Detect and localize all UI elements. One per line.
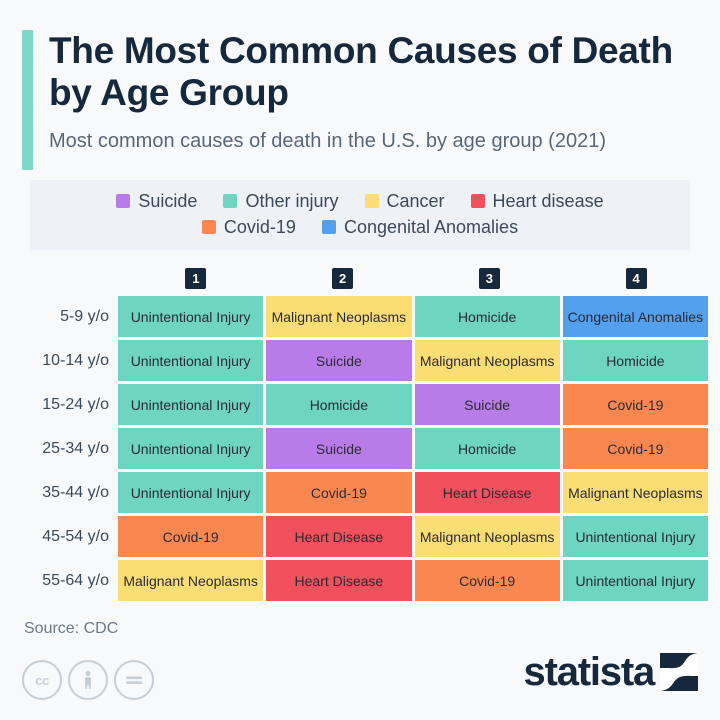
cause-cell: Covid-19 [266,472,411,513]
cause-cell: Suicide [266,428,411,469]
cause-cell: Covid-19 [563,428,708,469]
legend-item: Heart disease [471,188,604,214]
cause-cell: Malignant Neoplasms [415,516,560,557]
row-label-age-group: 55-64 y/o [22,560,118,601]
row-label-age-group: 10-14 y/o [22,340,118,381]
cause-cell: Heart Disease [266,560,411,601]
legend-swatch-icon [471,194,485,208]
table-row: 35-44 y/oUnintentional InjuryCovid-19Hea… [22,472,708,513]
row-cells: Malignant NeoplasmsHeart DiseaseCovid-19… [118,560,708,601]
row-cells: Unintentional InjurySuicideHomicideCovid… [118,428,708,469]
column-rank-badge: 2 [332,268,353,289]
legend-swatch-icon [365,194,379,208]
legend-item: Cancer [365,188,445,214]
creative-commons-icons: cc [22,660,154,700]
cause-cell: Heart Disease [266,516,411,557]
table-row: 10-14 y/oUnintentional InjurySuicideMali… [22,340,708,381]
cause-cell: Malignant Neoplasms [563,472,708,513]
causes-matrix: 5-9 y/oUnintentional InjuryMalignant Neo… [22,296,708,604]
cause-cell: Congenital Anomalies [563,296,708,337]
source-note: Source: CDC [24,620,118,638]
row-cells: Covid-19Heart DiseaseMalignant Neoplasms… [118,516,708,557]
row-label-age-group: 35-44 y/o [22,472,118,513]
cc-nd-equals-glyph [124,673,144,687]
page-subtitle: Most common causes of death in the U.S. … [49,128,698,154]
infographic-root: The Most Common Causes of Death by Age G… [0,0,720,720]
legend-label: Covid-19 [224,214,296,240]
row-cells: Unintentional InjuryHomicideSuicideCovid… [118,384,708,425]
row-cells: Unintentional InjuryCovid-19Heart Diseas… [118,472,708,513]
legend-item: Other injury [223,188,338,214]
cause-cell: Unintentional Injury [118,340,263,381]
legend-swatch-icon [322,220,336,234]
cc-by-person-glyph [80,670,96,690]
legend-row-primary: SuicideOther injuryCancerHeart disease [30,188,690,214]
table-row: 25-34 y/oUnintentional InjurySuicideHomi… [22,428,708,469]
legend-label: Suicide [138,188,197,214]
column-rank-badges: 1234 [124,268,708,289]
legend: SuicideOther injuryCancerHeart disease C… [30,180,690,250]
column-badge-slot: 4 [564,268,708,289]
legend-label: Other injury [245,188,338,214]
row-label-age-group: 45-54 y/o [22,516,118,557]
row-cells: Unintentional InjurySuicideMalignant Neo… [118,340,708,381]
legend-label: Congenital Anomalies [344,214,518,240]
cause-cell: Suicide [415,384,560,425]
legend-label: Heart disease [493,188,604,214]
column-rank-badge: 4 [626,268,647,289]
cc-icon-label: cc [35,673,48,688]
column-badge-slot: 3 [418,268,562,289]
title-accent-bar [22,30,33,170]
cause-cell: Homicide [415,296,560,337]
cause-cell: Covid-19 [118,516,263,557]
table-row: 5-9 y/oUnintentional InjuryMalignant Neo… [22,296,708,337]
cause-cell: Malignant Neoplasms [415,340,560,381]
header: The Most Common Causes of Death by Age G… [0,0,720,170]
statista-wordmark: statista [524,652,654,692]
cause-cell: Unintentional Injury [118,472,263,513]
cause-cell: Unintentional Injury [118,428,263,469]
page-title: The Most Common Causes of Death by Age G… [49,30,698,114]
column-rank-badge: 3 [479,268,500,289]
statista-logo: statista [524,652,698,692]
column-badge-slot: 1 [124,268,268,289]
row-label-age-group: 15-24 y/o [22,384,118,425]
row-cells: Unintentional InjuryMalignant NeoplasmsH… [118,296,708,337]
cause-cell: Suicide [266,340,411,381]
row-label-age-group: 25-34 y/o [22,428,118,469]
cause-cell: Covid-19 [563,384,708,425]
table-row: 55-64 y/oMalignant NeoplasmsHeart Diseas… [22,560,708,601]
statista-mark-icon [660,653,698,691]
cause-cell: Homicide [415,428,560,469]
cause-cell: Malignant Neoplasms [266,296,411,337]
legend-swatch-icon [116,194,130,208]
cause-cell: Unintentional Injury [563,560,708,601]
statista-swoosh-glyph [660,653,698,691]
cause-cell: Unintentional Injury [118,296,263,337]
cause-cell: Unintentional Injury [563,516,708,557]
cc-icon: cc [22,660,62,700]
cause-cell: Malignant Neoplasms [118,560,263,601]
column-rank-badge: 1 [185,268,206,289]
cc-nd-icon [114,660,154,700]
column-badge-slot: 2 [271,268,415,289]
legend-item: Congenital Anomalies [322,214,518,240]
header-text: The Most Common Causes of Death by Age G… [49,30,698,170]
legend-row-secondary: Covid-19Congenital Anomalies [30,214,690,240]
cause-cell: Homicide [563,340,708,381]
table-row: 15-24 y/oUnintentional InjuryHomicideSui… [22,384,708,425]
legend-swatch-icon [202,220,216,234]
legend-item: Suicide [116,188,197,214]
row-label-age-group: 5-9 y/o [22,296,118,337]
cc-by-icon [68,660,108,700]
table-row: 45-54 y/oCovid-19Heart DiseaseMalignant … [22,516,708,557]
legend-swatch-icon [223,194,237,208]
legend-item: Covid-19 [202,214,296,240]
legend-label: Cancer [387,188,445,214]
cause-cell: Unintentional Injury [118,384,263,425]
cause-cell: Heart Disease [415,472,560,513]
cause-cell: Homicide [266,384,411,425]
cause-cell: Covid-19 [415,560,560,601]
